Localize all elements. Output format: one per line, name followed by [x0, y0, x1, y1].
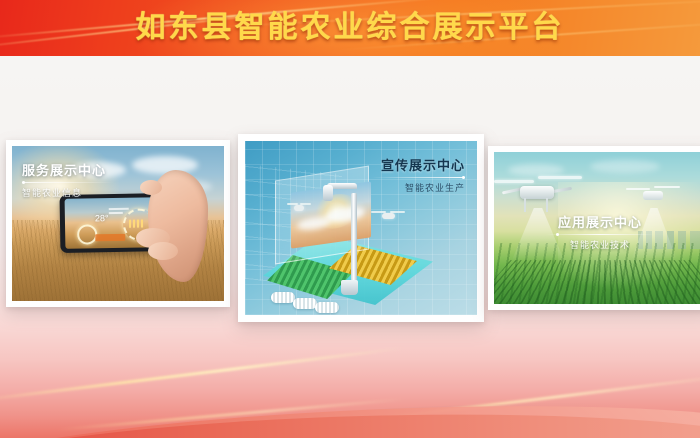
card-application-center-image: 应用展示中心 智能农业技术 [494, 152, 700, 304]
card-service-center-title: 服务展示中心 [22, 160, 114, 179]
hud-tick [109, 208, 129, 210]
card-service-center-caption: 服务展示中心 智能农业信息 [22, 160, 114, 199]
card-publicity-center[interactable]: 宣传展示中心 智能农业生产 [238, 134, 484, 322]
finger [140, 180, 162, 195]
drone-leg [524, 198, 526, 212]
caption-divider [546, 234, 654, 235]
finger [148, 242, 178, 260]
drone-icon [287, 201, 311, 213]
hay-roll [271, 292, 295, 303]
cloud [132, 156, 198, 174]
card-publicity-center-title: 宣传展示中心 [371, 155, 465, 174]
drone-icon-small [626, 182, 680, 208]
sensor-pole-head [323, 185, 333, 201]
caption-divider [22, 182, 114, 183]
cloud [590, 160, 660, 173]
caption-divider [371, 177, 465, 178]
card-service-center[interactable]: 28° 服务展示中心 智能农业信息 [6, 140, 230, 307]
card-publicity-center-image: 宣传展示中心 智能农业生产 [245, 141, 477, 315]
card-application-center[interactable]: 应用展示中心 智能农业技术 [488, 146, 700, 310]
hud-chip [95, 234, 125, 242]
drone-body [643, 191, 663, 200]
hay-roll [315, 302, 339, 313]
phone-temperature-reading: 28° [95, 213, 109, 223]
drone-rotor [654, 186, 680, 188]
card-publicity-center-subtitle: 智能农业生产 [371, 181, 465, 194]
card-application-center-subtitle: 智能农业技术 [494, 238, 700, 251]
drone-body [294, 205, 304, 211]
drone-rotor [626, 188, 650, 190]
hud-tick [109, 212, 123, 214]
sensor-pole [351, 193, 357, 281]
drone-rotor [538, 176, 582, 179]
hay-roll [293, 298, 317, 309]
card-application-center-title: 应用展示中心 [494, 212, 700, 231]
app-root: 如东县智能农业综合展示平台 28° [0, 0, 700, 438]
drone-icon-large [494, 170, 588, 216]
drone-rotor [494, 180, 534, 183]
card-application-center-caption: 应用展示中心 智能农业技术 [494, 212, 700, 251]
drone-body [382, 213, 395, 219]
drone-leg [546, 198, 548, 212]
drone-icon [371, 209, 405, 221]
card-publicity-center-caption: 宣传展示中心 智能农业生产 [371, 155, 465, 194]
water-bucket [341, 280, 358, 295]
card-service-center-image: 28° 服务展示中心 智能农业信息 [12, 146, 224, 301]
card-service-center-subtitle: 智能农业信息 [22, 186, 114, 199]
header-banner: 如东县智能农业综合展示平台 [0, 0, 700, 56]
page-title: 如东县智能农业综合展示平台 [0, 6, 700, 50]
